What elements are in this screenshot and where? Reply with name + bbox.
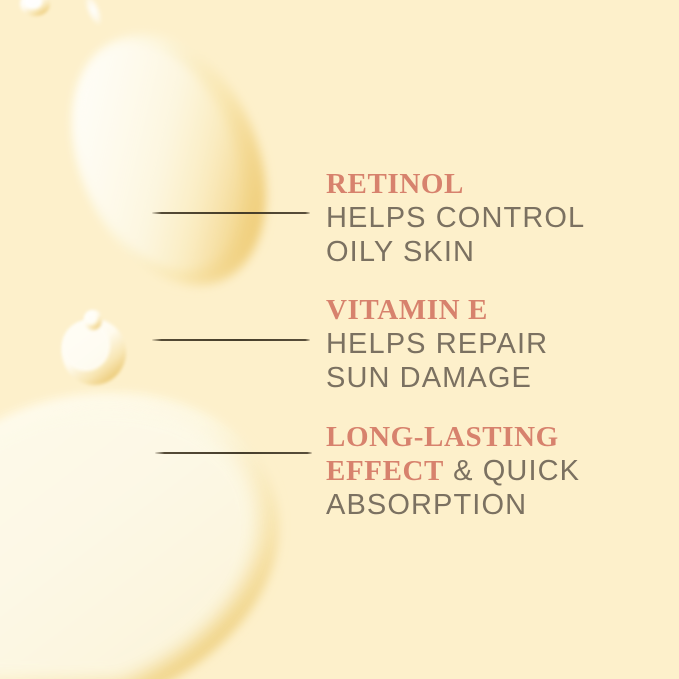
oil-droplet-small — [62, 310, 126, 385]
connector-line-long-lasting — [155, 452, 312, 454]
benefit-item-long-lasting: LONG-LASTING EFFECT & QUICK ABSORPTION — [326, 420, 666, 522]
benefits-list: RETINOL HELPS CONTROL OILY SKIN VITAMIN … — [326, 0, 666, 679]
benefit-heading: LONG-LASTING — [326, 420, 666, 454]
benefit-item-retinol: RETINOL HELPS CONTROL OILY SKIN — [326, 167, 666, 269]
benefit-heading: VITAMIN E — [326, 293, 666, 327]
oil-droplet-large — [17, 0, 302, 315]
oil-blob-bottom-left — [0, 393, 279, 679]
oil-droplet-tiny-top — [20, 0, 50, 16]
connector-line-vitamin-e — [152, 339, 310, 341]
connector-line-retinol — [152, 212, 310, 214]
benefit-description-line: HELPS REPAIR — [326, 327, 666, 361]
benefit-description-line: HELPS CONTROL — [326, 201, 666, 235]
serum-benefits-poster: RETINOL HELPS CONTROL OILY SKIN VITAMIN … — [0, 0, 679, 679]
benefit-description-line: SUN DAMAGE — [326, 361, 666, 395]
benefit-heading: RETINOL — [326, 167, 666, 201]
benefit-description-line: ABSORPTION — [326, 488, 666, 522]
benefit-item-vitamin-e: VITAMIN E HELPS REPAIR SUN DAMAGE — [326, 293, 666, 395]
benefit-description-suffix: & QUICK — [444, 455, 580, 487]
benefit-description-mixed-line: EFFECT & QUICK — [326, 454, 666, 488]
benefit-heading-continuation: EFFECT — [326, 455, 444, 487]
benefit-description-line: OILY SKIN — [326, 235, 666, 269]
